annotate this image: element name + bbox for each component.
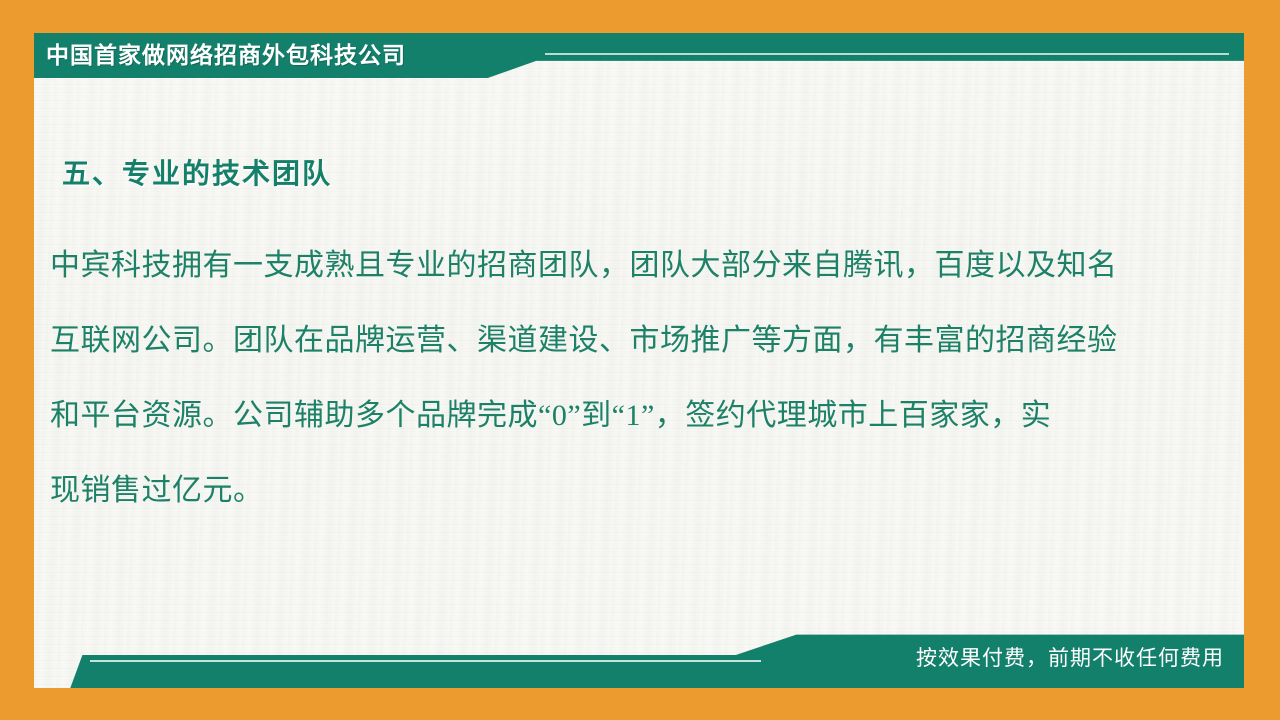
footer-tagline: 按效果付费，前期不收任何费用 — [916, 641, 1224, 677]
body-line: 和平台资源。公司辅助多个品牌完成“0”到“1”，签约代理城市上百家家，实 — [50, 378, 1190, 453]
page-title: 五、专业的技术团队 — [62, 152, 332, 192]
presentation-slide: 中国首家做网络招商外包科技公司 五、专业的技术团队 中宾科技拥有一支成熟且专业的… — [0, 0, 1280, 720]
body-line: 中宾科技拥有一支成熟且专业的招商团队，团队大部分来自腾讯，百度以及知名 — [50, 228, 1190, 303]
body-paragraph: 中宾科技拥有一支成熟且专业的招商团队，团队大部分来自腾讯，百度以及知名 互联网公… — [50, 228, 1190, 528]
header-hairline-divider — [545, 53, 1230, 55]
header-banner-text: 中国首家做网络招商外包科技公司 — [46, 37, 406, 73]
top-orange-strip — [34, 0, 1244, 33]
body-line: 互联网公司。团队在品牌运营、渠道建设、市场推广等方面，有丰富的招商经验 — [50, 303, 1190, 378]
body-line: 现销售过亿元。 — [50, 453, 1190, 528]
footer-banner: 按效果付费，前期不收任何费用 — [34, 630, 1244, 688]
bottom-orange-strip — [34, 688, 1244, 720]
header-banner: 中国首家做网络招商外包科技公司 — [34, 33, 1244, 78]
footer-hairline-divider — [90, 660, 762, 662]
